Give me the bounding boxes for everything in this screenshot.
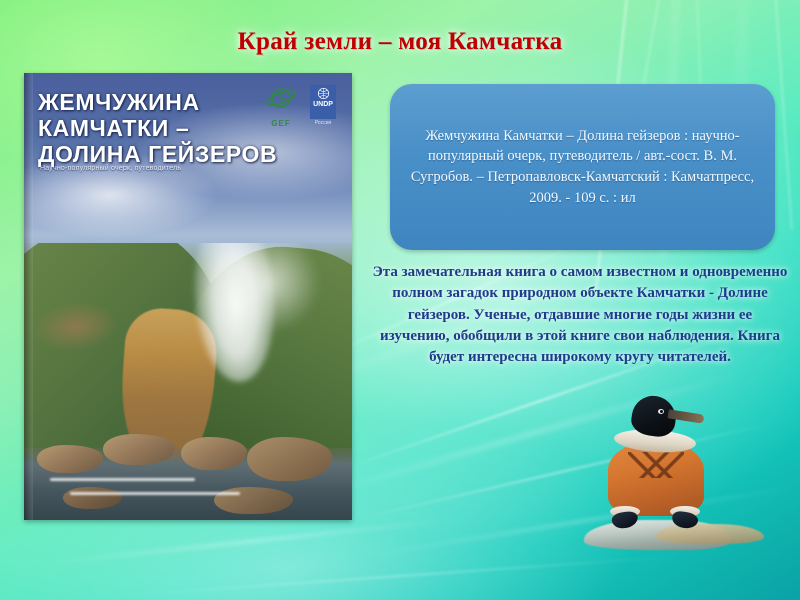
- photo-rock: [103, 434, 175, 464]
- slide-title: Край земли – моя Камчатка: [0, 28, 800, 56]
- gef-logo-icon: GEF: [264, 85, 298, 128]
- photo-river-foam: [70, 492, 241, 495]
- book-title-line-3: ДОЛИНА ГЕЙЗЕРОВ: [38, 141, 338, 167]
- photo-river-foam: [50, 478, 194, 481]
- book-cover-logos: GEF UNDP Россия: [264, 85, 336, 128]
- gef-logo-label: GEF: [264, 119, 298, 128]
- annotation-paragraph: Эта замечательная книга о самом известно…: [372, 262, 788, 368]
- penguin-parka-pattern: [628, 452, 684, 478]
- penguin-rock-ledge: [656, 524, 764, 544]
- penguin-in-parka-illustration: [592, 396, 724, 546]
- book-spine: [24, 73, 33, 520]
- undp-logo-letters: UNDP: [313, 101, 333, 108]
- bibliographic-record-box: Жемчужина Камчатки – Долина гейзеров : н…: [390, 84, 775, 250]
- presentation-slide: Край земли – моя Камчатка GEF UND: [0, 0, 800, 600]
- undp-logo-icon: UNDP Россия: [310, 85, 336, 126]
- book-cover-photograph: [24, 243, 352, 520]
- photo-geyser-steam-haze: [221, 243, 319, 332]
- photo-rock: [37, 445, 103, 473]
- bibliographic-record-text: Жемчужина Камчатки – Долина гейзеров : н…: [406, 126, 759, 208]
- book-cover-image: GEF UNDP Россия ЖЕМЧУЖИНА КАМЧАТКИ – ДОЛ…: [24, 73, 352, 520]
- undp-logo-caption: Россия: [310, 120, 336, 126]
- penguin-eye: [658, 409, 664, 414]
- book-cover-subtitle: Научно-популярный очерк, путеводитель: [40, 165, 181, 172]
